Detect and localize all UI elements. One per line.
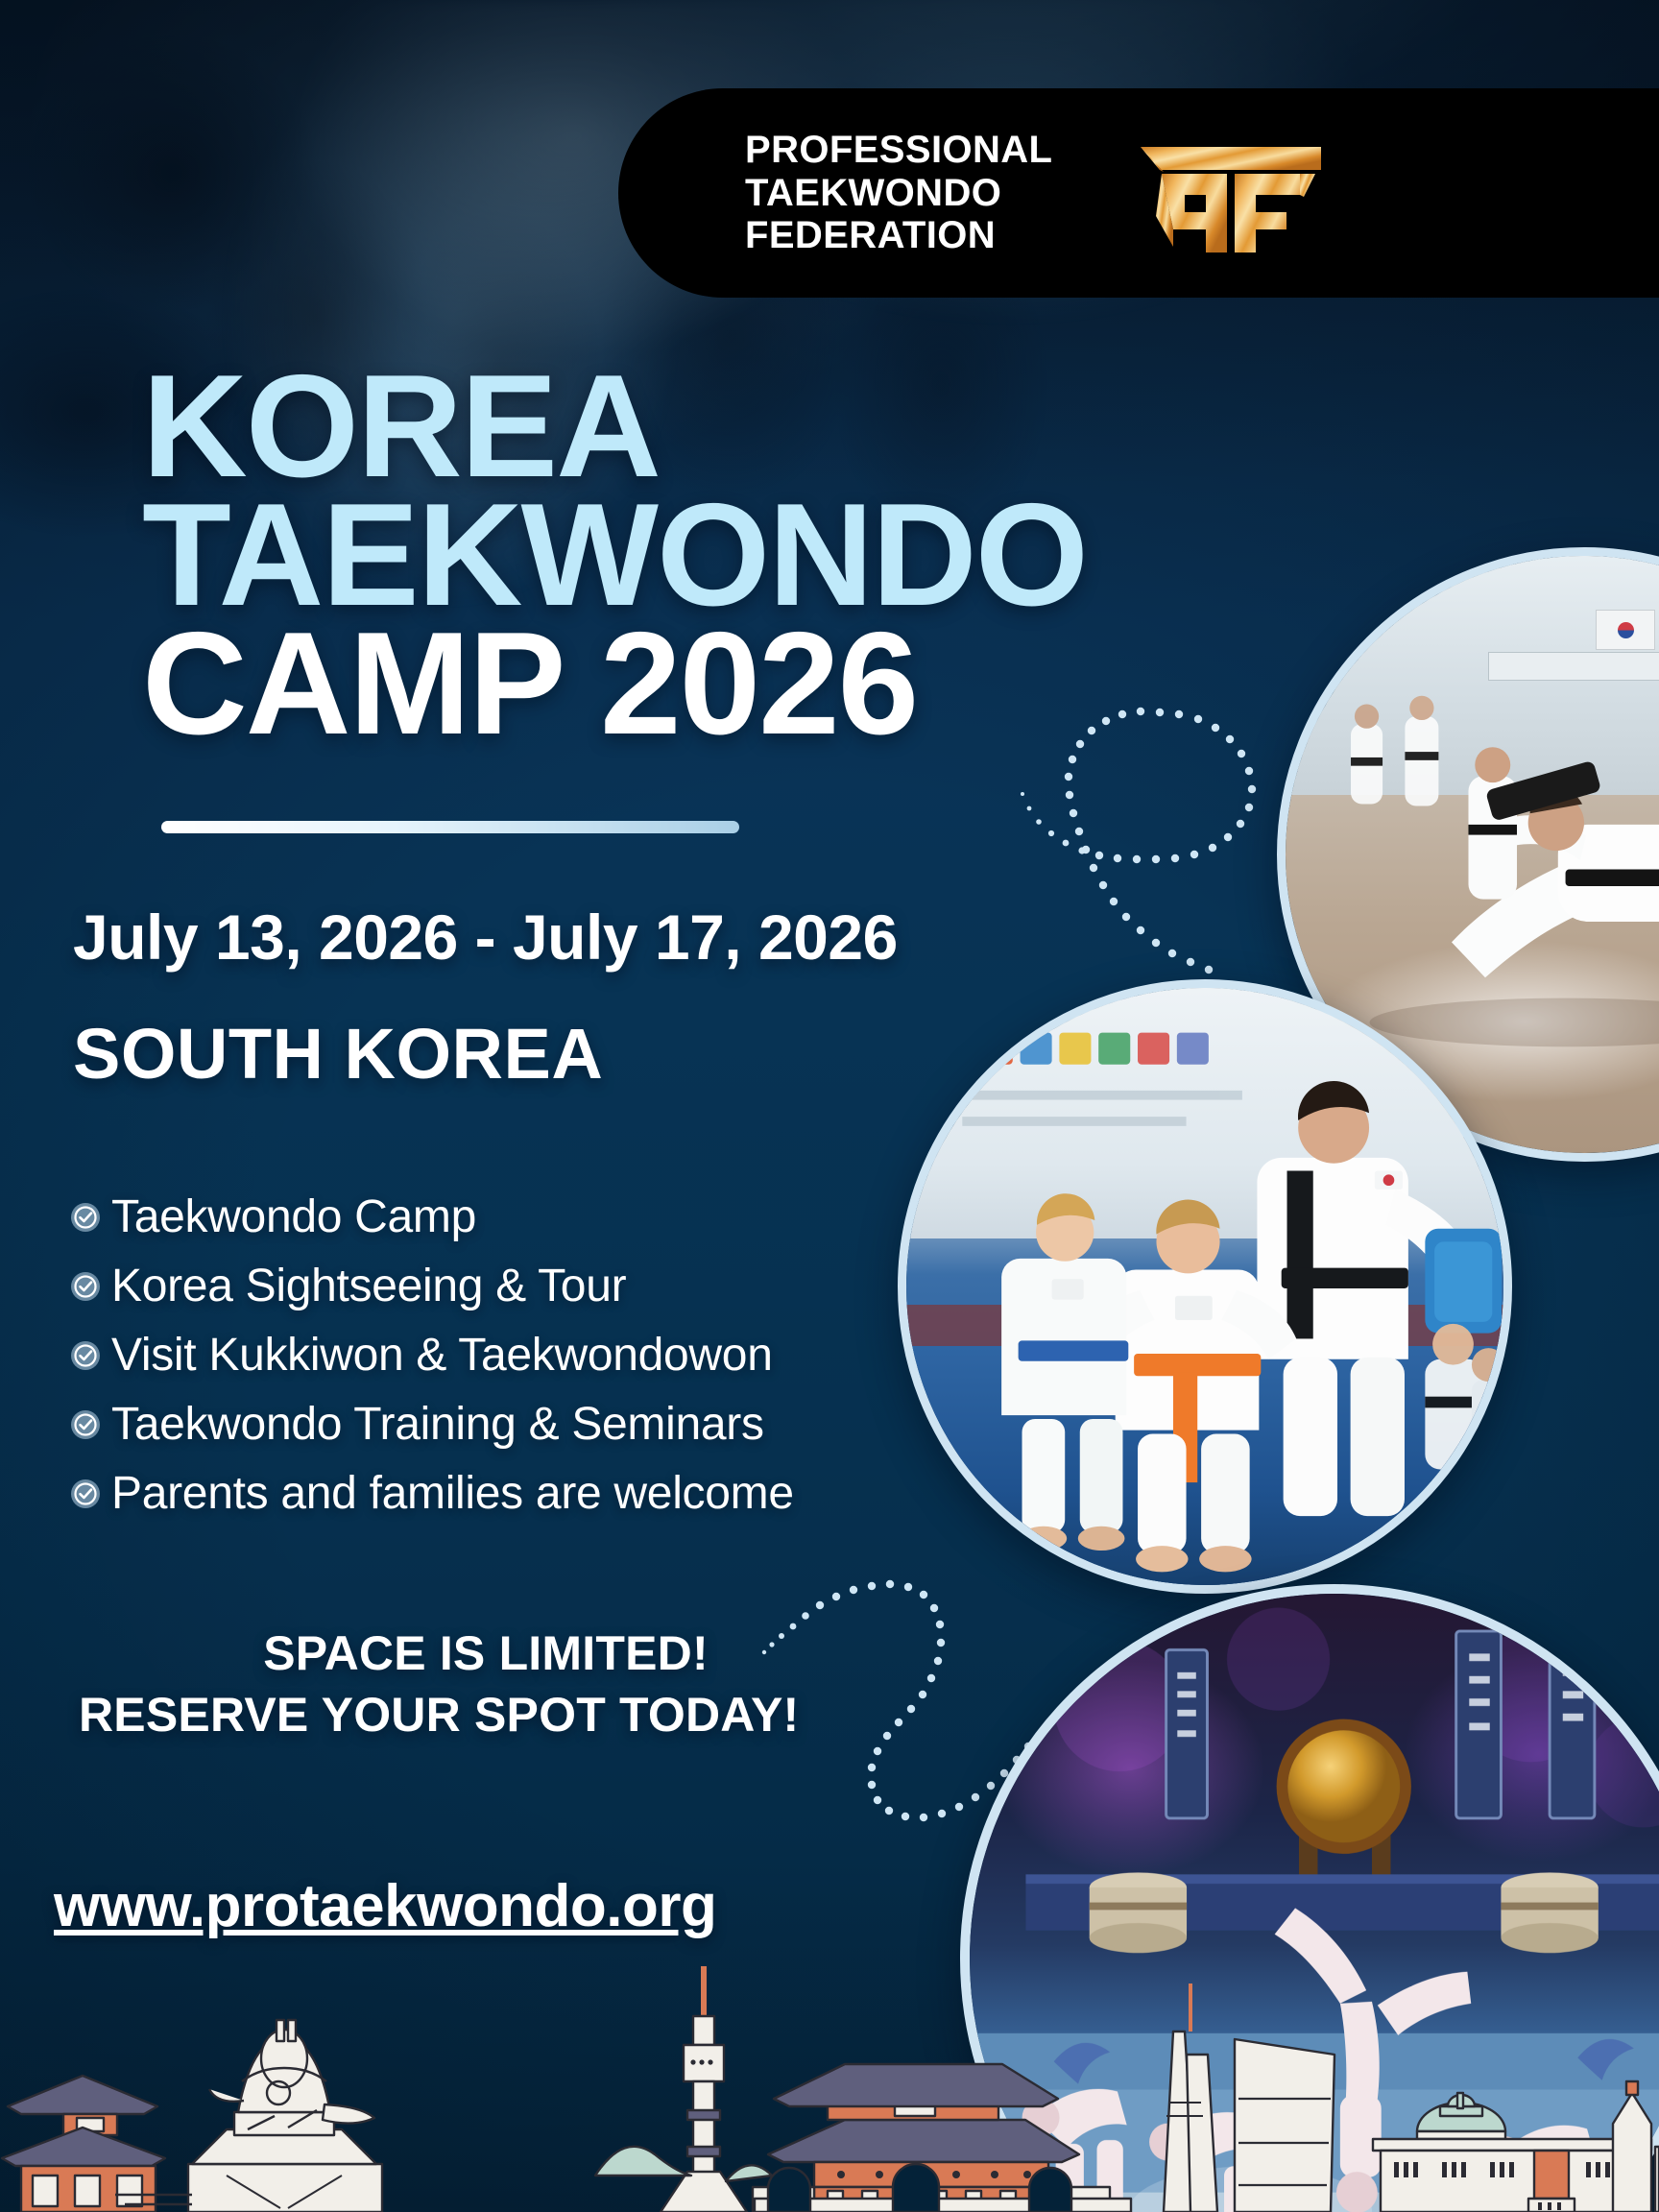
photo-2-content	[906, 988, 1503, 1585]
photo-2-figures	[906, 988, 1503, 1585]
title-line-camp-year: CAMP 2026	[142, 620, 1198, 749]
title-divider-rule	[161, 821, 739, 833]
check-circle-icon	[69, 1201, 102, 1234]
photo-instructor-kids-training	[898, 979, 1512, 1594]
check-circle-icon	[69, 1478, 102, 1510]
federation-name: PROFESSIONAL TAEKWONDO FEDERATION	[745, 129, 1052, 257]
feature-label: Visit Kukkiwon & Taekwondowon	[111, 1329, 773, 1382]
event-dates: July 13, 2026 - July 17, 2026	[73, 901, 898, 974]
feature-label: Taekwondo Camp	[111, 1190, 476, 1243]
skyline-skyscraper	[1235, 2039, 1334, 2212]
poster-root: PROFESSIONAL TAEKWONDO FEDERATION	[0, 0, 1659, 2212]
skyline-cathedral	[1613, 2081, 1659, 2212]
cta-line-reserve-spot: RESERVE YOUR SPOT TODAY!	[73, 1684, 899, 1745]
call-to-action: SPACE IS LIMITED! RESERVE YOUR SPOT TODA…	[73, 1623, 899, 1745]
skyline-needle-tower	[1164, 1984, 1217, 2212]
check-circle-icon	[69, 1270, 102, 1303]
skyline-statue	[188, 2020, 382, 2212]
federation-line-1: PROFESSIONAL	[745, 129, 1052, 172]
feature-label: Taekwondo Training & Seminars	[111, 1398, 764, 1451]
feature-list: Taekwondo Camp Korea Sightseeing & Tour …	[69, 1190, 794, 1536]
skyline-n-seoul-tower	[595, 1966, 772, 2212]
event-location: SOUTH KOREA	[73, 1013, 603, 1094]
feature-label: Parents and families are welcome	[111, 1467, 794, 1520]
skyline-domed-building	[1373, 2093, 1651, 2212]
title-line-taekwondo: TAEKWONDO	[142, 492, 1198, 620]
list-item: Visit Kukkiwon & Taekwondowon	[69, 1329, 794, 1382]
list-item: Parents and families are welcome	[69, 1467, 794, 1520]
federation-line-3: FEDERATION	[745, 214, 1052, 257]
skyline-hanok-gate	[2, 2076, 165, 2212]
federation-badge: PROFESSIONAL TAEKWONDO FEDERATION	[618, 88, 1659, 298]
list-item: Taekwondo Training & Seminars	[69, 1398, 794, 1451]
check-circle-icon	[69, 1339, 102, 1372]
title-line-korea: KOREA	[142, 363, 1198, 492]
poster-title: KOREA TAEKWONDO CAMP 2026	[142, 363, 1198, 748]
list-item: Korea Sightseeing & Tour	[69, 1260, 794, 1312]
cta-line-space-limited: SPACE IS LIMITED!	[73, 1623, 899, 1684]
ptf-emblem-logo	[1135, 133, 1327, 252]
list-item: Taekwondo Camp	[69, 1190, 794, 1243]
seoul-landmarks-skyline	[0, 1924, 1659, 2212]
federation-line-2: TAEKWONDO	[745, 172, 1052, 215]
feature-label: Korea Sightseeing & Tour	[111, 1260, 626, 1312]
check-circle-icon	[69, 1408, 102, 1441]
